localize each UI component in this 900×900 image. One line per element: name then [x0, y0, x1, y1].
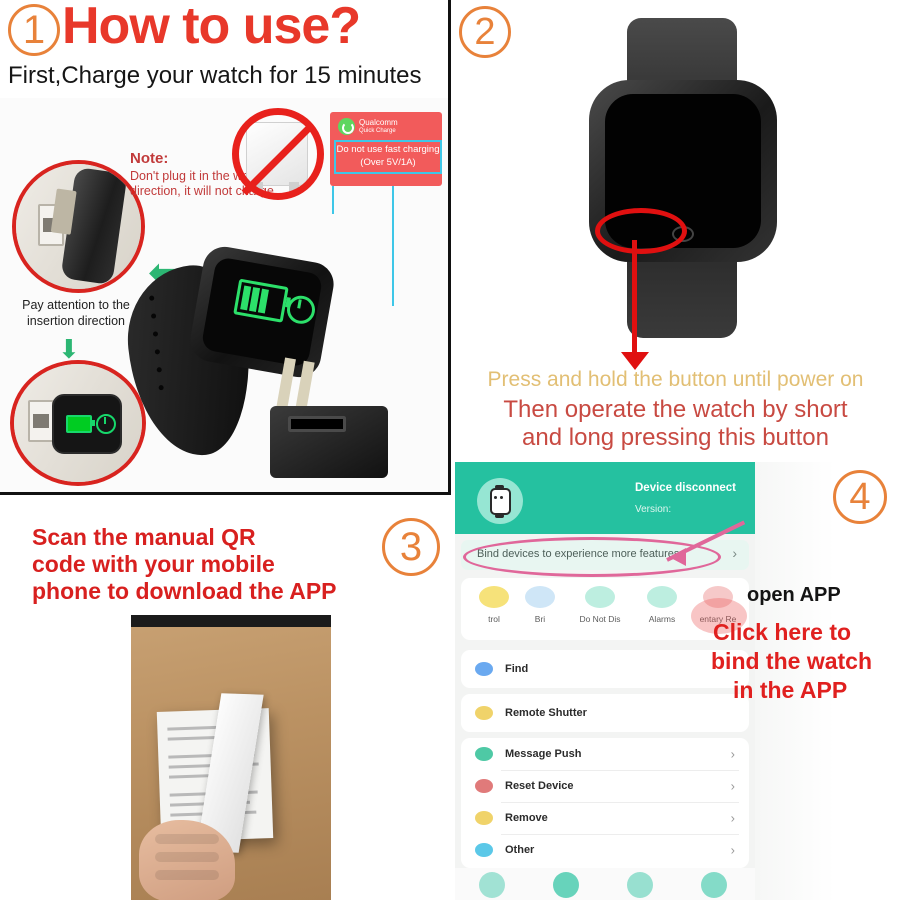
operate-watch-line1: Then operate the watch by short — [457, 396, 894, 424]
other-icon — [475, 843, 493, 857]
prohibition-icon — [232, 108, 324, 200]
usb-wrong-direction-photo — [12, 160, 145, 293]
operate-watch-line2: and long pressing this button — [457, 424, 894, 452]
power-icon — [96, 414, 116, 434]
qualcomm-brand: Qualcomm — [359, 118, 398, 127]
chevron-right-icon: › — [731, 843, 735, 858]
shortcut-item[interactable]: Alarms — [633, 586, 691, 624]
scan-qr-line2: code with your mobile — [32, 551, 275, 578]
chevron-right-icon: › — [732, 545, 737, 561]
tab-profile-icon[interactable] — [701, 872, 727, 898]
shortcut-label-alarms: Alarms — [633, 614, 691, 624]
tab-home-icon[interactable] — [479, 872, 505, 898]
step-number-4: 4 — [833, 470, 887, 524]
list-item-label: Other — [505, 844, 534, 856]
list-item-label: Reset Device — [505, 780, 574, 792]
list-item[interactable]: Remote Shutter — [461, 694, 749, 732]
list-item-label: Find — [505, 663, 528, 675]
find-icon — [475, 662, 493, 676]
list-item[interactable]: Message Push › — [461, 738, 749, 770]
note-label: Note: — [130, 150, 168, 167]
list-item[interactable]: Reset Device › — [461, 770, 749, 802]
battery-icon — [66, 415, 92, 433]
list-item[interactable]: Find — [461, 650, 749, 688]
list-item-label: Remove — [505, 812, 548, 824]
reset-device-icon — [475, 779, 493, 793]
list-item-label: Message Push — [505, 748, 581, 760]
scan-qr-line3: phone to download the APP — [32, 578, 337, 605]
shortcut-label: Bri — [511, 614, 569, 624]
message-push-icon — [475, 747, 493, 761]
red-arrow-shaft — [632, 240, 637, 358]
watch-charging-mini — [52, 394, 122, 454]
bind-devices-row[interactable]: Bind devices to experience more features… — [461, 540, 749, 570]
panel-how-to-use: 1 How to use? First,Charge your watch fo… — [0, 0, 451, 495]
step-number-2: 2 — [459, 6, 511, 58]
manual-photo — [131, 615, 331, 900]
chevron-right-icon: › — [731, 747, 735, 762]
fast-charge-warning-box: Qualcomm Quick Charge Do not use fast ch… — [330, 112, 442, 186]
list-item-label: Remote Shutter — [505, 707, 587, 719]
instruction-poster: 1 How to use? First,Charge your watch fo… — [0, 0, 900, 900]
panel-bind-app: Device disconnect Version: Bind devices … — [455, 462, 900, 900]
press-hold-text: Press and hold the button until power on — [457, 368, 894, 392]
settings-group: Message Push › Reset Device › Remove › — [461, 738, 749, 868]
app-screenshot: Device disconnect Version: Bind devices … — [455, 462, 755, 900]
device-status-text: Device disconnect — [635, 482, 736, 494]
page-title: How to use? — [62, 0, 360, 56]
tab-device-icon[interactable] — [553, 872, 579, 898]
chevron-right-icon: › — [731, 811, 735, 826]
usb-dock-block — [270, 406, 388, 478]
green-arrow-down-icon: ⬇ — [58, 334, 80, 365]
scan-qr-line1: Scan the manual QR — [32, 524, 256, 551]
list-item[interactable]: Other › — [461, 834, 749, 866]
click-here-line2: bind the watch — [711, 648, 872, 675]
button-highlight-ellipse — [595, 208, 687, 254]
watch-charging-photo — [130, 248, 400, 478]
no-fast-charger-sign — [232, 108, 324, 200]
usb-correct-direction-photo — [10, 360, 146, 486]
insertion-direction-text: Pay attention to the insertion direction — [6, 298, 146, 329]
watch-avatar-icon — [477, 478, 523, 524]
smartwatch-illustration — [569, 18, 799, 338]
list-item[interactable]: Remove › — [461, 802, 749, 834]
watch-body — [187, 243, 337, 380]
pink-arrow-head-icon — [669, 548, 686, 566]
alarms-icon — [647, 586, 677, 608]
charging-illustration: Note: Don't plug it in the wrong directi… — [0, 98, 448, 492]
remote-shutter-icon — [475, 706, 493, 720]
remove-icon — [475, 811, 493, 825]
battery-level-icon — [233, 279, 288, 323]
qualcomm-badge-icon — [338, 118, 355, 135]
chevron-right-icon: › — [731, 779, 735, 794]
app-header: Device disconnect Version: — [455, 462, 755, 534]
tab-discover-icon[interactable] — [627, 872, 653, 898]
qualcomm-sub: Quick Charge — [359, 128, 398, 135]
shortcut-item[interactable]: Bri — [511, 586, 569, 624]
open-app-text: open APP — [747, 584, 841, 607]
step-number-1: 1 — [8, 4, 60, 56]
click-here-line1: Click here to — [713, 619, 851, 646]
version-label: Version: — [635, 504, 671, 515]
callout-line-left — [332, 186, 334, 214]
no-fast-charging-text: Do not use fast charging (Over 5V/1A) — [334, 140, 442, 174]
control-icon — [479, 586, 509, 608]
brightness-icon — [525, 586, 555, 608]
step-number-3: 3 — [382, 518, 440, 576]
do-not-disturb-icon — [585, 586, 615, 608]
shortcut-item[interactable]: Do Not Dis — [571, 586, 629, 624]
app-tab-bar — [455, 868, 755, 900]
shortcut-label: Do Not Dis — [571, 614, 629, 624]
panel-power-on: 2 Press and hold the button until power … — [451, 0, 900, 462]
charge-subtitle: First,Charge your watch for 15 minutes — [8, 62, 422, 90]
click-here-line3: in the APP — [733, 677, 847, 704]
